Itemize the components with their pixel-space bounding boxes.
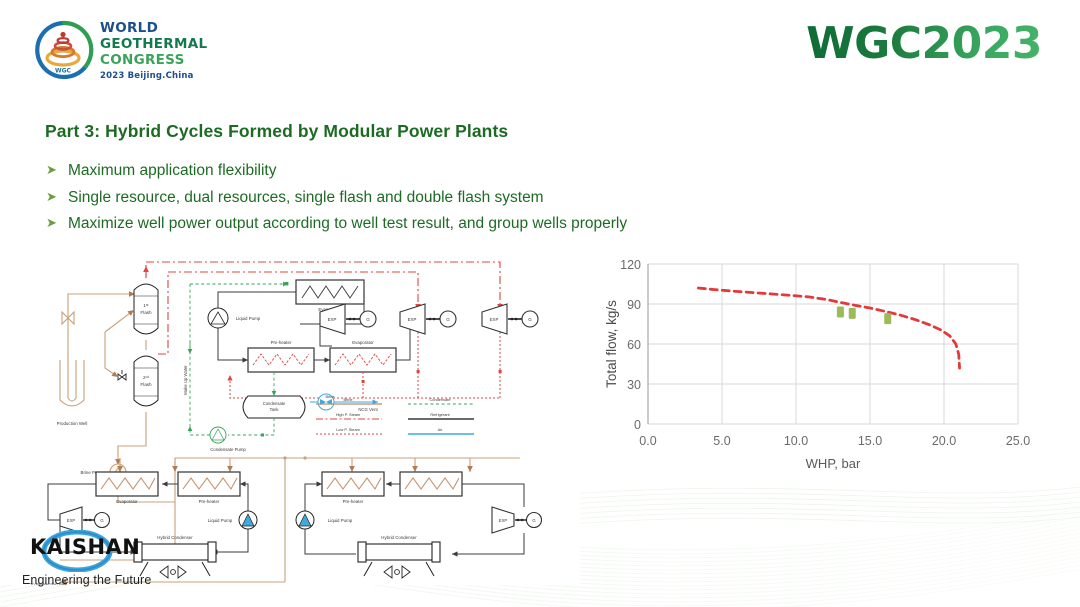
chart-marker <box>884 313 891 324</box>
logo-line-geothermal: GEOTHERMAL <box>100 38 207 52</box>
logo-line-world: WORLD <box>100 22 207 36</box>
evaporator-right <box>400 472 462 496</box>
evaporator-mid <box>330 348 396 372</box>
label-pre-heater-mid: Pre-heater <box>271 340 292 345</box>
legend-label-highp: High P. Steam <box>336 412 361 417</box>
label-ncg-vent: NCG Vent <box>358 407 378 412</box>
wgc-emblem-icon: WGC <box>32 18 96 82</box>
label-pre-heater-left: Pre-heater <box>199 499 220 504</box>
x-tick: 15.0 <box>858 434 882 448</box>
list-item: ➤ Single resource, dual resources, singl… <box>46 187 946 209</box>
kaishan-logo: KAISHAN Engineering the Future <box>18 530 168 592</box>
label-exp-2: EXP <box>408 317 417 322</box>
label-exp-left: EXP <box>67 518 76 523</box>
liquid-pump-left <box>239 511 257 529</box>
label-make-up-water: Make Up Water <box>183 365 188 395</box>
arrow-bullet-icon: ➤ <box>46 213 68 235</box>
label-condensate-pump: Condensate Pump <box>210 447 246 452</box>
label-hybrid-condenser-right: Hybrid Condenser <box>381 535 417 540</box>
label-flash-1: 1ˢᵗ <box>143 303 148 308</box>
y-tick: 60 <box>627 338 641 352</box>
label-gen-3: G <box>528 317 532 322</box>
y-tick: 30 <box>627 378 641 392</box>
x-tick: 20.0 <box>932 434 956 448</box>
label-exp-right: EXP <box>499 518 508 523</box>
brand-wordmark: WGC2023 <box>806 20 1042 68</box>
label-gen-left: G <box>100 518 104 523</box>
pre-heater-mid <box>248 348 314 372</box>
legend-label-condensate: Condensate <box>430 397 451 402</box>
label-exp-3: EXP <box>490 317 499 322</box>
label-flash-2b: Flash <box>140 382 152 387</box>
label-flash-1b: Flash <box>140 310 152 315</box>
label-gen-1: G <box>366 317 370 322</box>
slide-root: WGC WORLD GEOTHERMAL CONGRESS 2023 Beiji… <box>0 0 1080 607</box>
liquid-pump-top <box>208 308 228 328</box>
legend-label-refrigerant: Refrigerant <box>430 412 450 417</box>
x-tick: 25.0 <box>1006 434 1030 448</box>
legend-label-lowp: Low P. Steam <box>336 427 360 432</box>
arrow-bullet-icon: ➤ <box>46 160 68 182</box>
list-item: ➤ Maximize well power output according t… <box>46 213 946 235</box>
logo-line-congress: CONGRESS <box>100 54 207 68</box>
deliverability-chart: 120 90 60 30 0 0.0 5.0 10.0 15.0 20.0 25… <box>600 252 1040 477</box>
bullet-text: Single resource, dual resources, single … <box>68 187 544 209</box>
label-condensate-tank2: Tank <box>270 407 280 412</box>
pre-heater-right <box>322 472 384 496</box>
arrow-bullet-icon: ➤ <box>46 187 68 209</box>
x-tick: 0.0 <box>639 434 656 448</box>
label-liquid-pump-right: Liquid Pump <box>328 518 353 523</box>
label-production-well: Production Well <box>57 421 88 426</box>
x-tick: 5.0 <box>713 434 730 448</box>
flash-vessel-2 <box>134 356 158 406</box>
flash-valve-icon <box>118 370 126 380</box>
evaporative-condenser <box>296 280 364 304</box>
condensate-pump <box>210 427 226 443</box>
chart-series-group <box>698 288 959 368</box>
x-tick: 10.0 <box>784 434 808 448</box>
page-title: Part 3: Hybrid Cycles Formed by Modular … <box>45 121 508 142</box>
label-evaporator-left: Evaporator <box>116 499 138 504</box>
label-gen-right: G <box>532 518 536 523</box>
flash-vessel-1 <box>134 284 158 334</box>
label-evaporator-mid: Evaporator <box>352 340 374 345</box>
kaishan-wordmark: KAISHAN <box>30 537 140 558</box>
chart-marker <box>849 308 856 319</box>
chart-y-ticklabels: 120 90 60 30 0 <box>620 258 641 432</box>
hybrid-condenser-right <box>358 542 440 578</box>
production-well <box>60 360 84 406</box>
label-liquid-pump-left: Liquid Pump <box>208 518 233 523</box>
label-pre-heater-right: Pre-heater <box>343 499 364 504</box>
chart-xlabel: WHP, bar <box>806 456 861 471</box>
chart-marker <box>837 307 844 318</box>
kaishan-tagline: Engineering the Future <box>22 573 151 587</box>
wgc-congress-logo: WGC WORLD GEOTHERMAL CONGRESS 2023 Beiji… <box>32 16 172 86</box>
chart-line-deliverability-curve <box>698 288 959 368</box>
list-item: ➤ Maximum application flexibility <box>46 160 946 182</box>
label-flash-2: 2ⁿᵈ <box>143 375 149 380</box>
evaporator-left <box>96 472 158 496</box>
bullet-text: Maximize well power output according to … <box>68 213 627 235</box>
y-tick: 0 <box>634 418 641 432</box>
label-gen-2: G <box>446 317 450 322</box>
chart-ylabel: Total flow, kg/s <box>604 300 619 388</box>
bullet-text: Maximum application flexibility <box>68 160 276 182</box>
bullet-list: ➤ Maximum application flexibility ➤ Sing… <box>46 160 946 240</box>
y-tick: 120 <box>620 258 641 272</box>
svg-text:WGC: WGC <box>55 68 72 75</box>
liquid-pump-right <box>296 511 314 529</box>
legend-label-air: Air <box>438 427 443 432</box>
legend-label-brine: Brine <box>343 397 352 402</box>
label-condensate-tank: Condensate <box>263 401 286 406</box>
y-tick: 90 <box>627 298 641 312</box>
logo-line-location: 2023 Beijing.China <box>100 71 207 81</box>
label-exp-1: EXP <box>328 317 337 322</box>
svg-text:Brine: Brine <box>325 394 334 399</box>
chart-x-ticklabels: 0.0 5.0 10.0 15.0 20.0 25.0 <box>639 434 1030 448</box>
pre-heater-left <box>178 472 240 496</box>
label-liquid-pump-top: Liquid Pump <box>236 316 261 321</box>
